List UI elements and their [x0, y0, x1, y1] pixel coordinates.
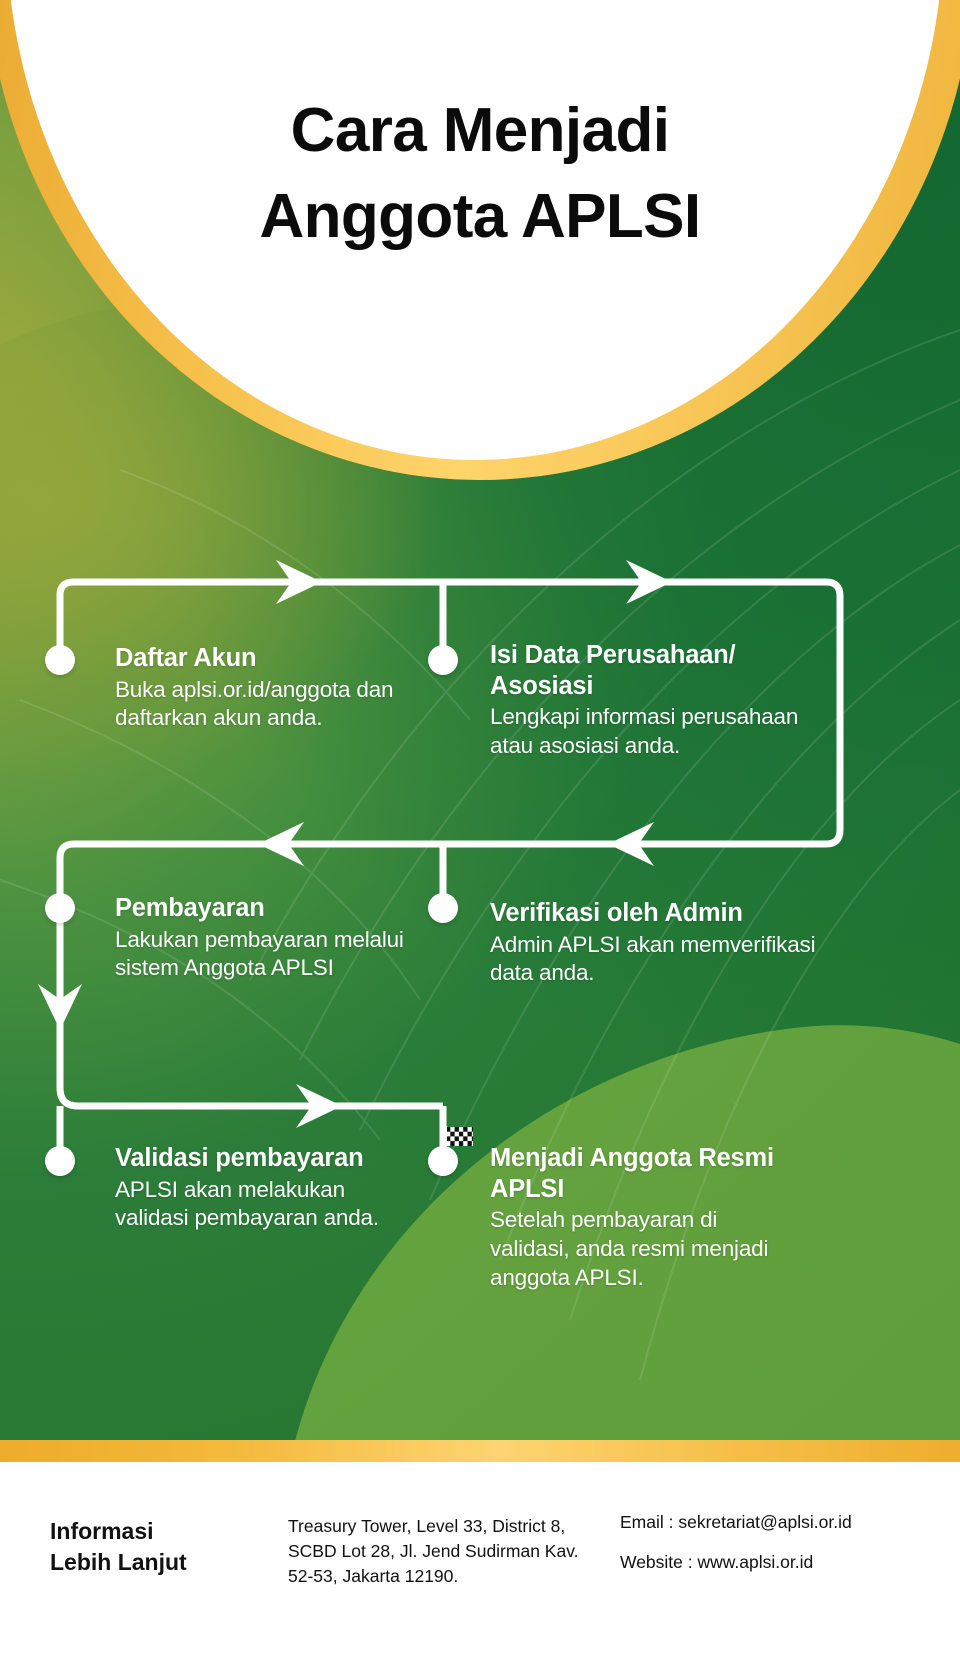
step-2-body: Lengkapi informasi perusahaan atau asosi… — [490, 703, 820, 761]
step-2-dot-marker — [428, 645, 458, 675]
step-1-text: Daftar Akun Buka aplsi.or.id/anggota dan… — [115, 643, 415, 733]
footer-contact: Email : sekretariat@aplsi.or.id Website … — [620, 1514, 950, 1593]
step-3-body: Lakukan pembayaran melalui sistem Anggot… — [115, 926, 415, 984]
footer-website[interactable]: Website : www.aplsi.or.id — [620, 1554, 950, 1572]
step-2-text: Isi Data Perusahaan/ Asosiasi Lengkapi i… — [490, 640, 820, 761]
footer: Informasi Lebih Lanjut Treasury Tower, L… — [0, 1462, 960, 1672]
step-5-body: APLSI akan melakukan validasi pembayaran… — [115, 1176, 385, 1234]
footer-label-line-1: Informasi — [50, 1516, 290, 1547]
step-6-text: Menjadi Anggota Resmi APLSI Setelah pemb… — [490, 1143, 790, 1293]
step-4-dot-marker — [428, 893, 458, 923]
footer-email[interactable]: Email : sekretariat@aplsi.or.id — [620, 1514, 950, 1532]
footer-address-line-1: Treasury Tower, Level 33, District 8, — [288, 1514, 588, 1539]
footer-address: Treasury Tower, Level 33, District 8, SC… — [288, 1514, 588, 1589]
step-4-body: Admin APLSI akan memverifikasi data anda… — [490, 931, 830, 989]
step-1-title: Daftar Akun — [115, 643, 415, 674]
step-4-title: Verifikasi oleh Admin — [490, 898, 830, 929]
step-5-text: Validasi pembayaran APLSI akan melakukan… — [115, 1143, 385, 1233]
step-1-dot-marker — [45, 645, 75, 675]
page-title-line-1: Cara Menjadi — [0, 88, 960, 174]
footer-address-line-3: 52-53, Jakarta 12190. — [288, 1564, 588, 1589]
footer-address-line-2: SCBD Lot 28, Jl. Jend Sudirman Kav. — [288, 1539, 588, 1564]
infographic-poster: Cara Menjadi Anggota APLSI — [0, 0, 960, 1672]
footer-label: Informasi Lebih Lanjut — [50, 1516, 290, 1578]
footer-label-line-2: Lebih Lanjut — [50, 1547, 290, 1578]
step-6-body: Setelah pembayaran di validasi, anda res… — [490, 1206, 790, 1292]
page-title-line-2: Anggota APLSI — [0, 174, 960, 260]
footer-gold-divider — [0, 1440, 960, 1462]
step-5-dot-marker — [45, 1146, 75, 1176]
step-5-title: Validasi pembayaran — [115, 1143, 385, 1174]
step-3-dot-marker — [45, 893, 75, 923]
step-3-title: Pembayaran — [115, 893, 415, 924]
page-title: Cara Menjadi Anggota APLSI — [0, 88, 960, 259]
step-4-text: Verifikasi oleh Admin Admin APLSI akan m… — [490, 898, 830, 988]
step-6-title: Menjadi Anggota Resmi APLSI — [490, 1143, 790, 1204]
step-3-text: Pembayaran Lakukan pembayaran melalui si… — [115, 893, 415, 983]
step-1-body: Buka aplsi.or.id/anggota dan daftarkan a… — [115, 676, 415, 734]
step-2-title: Isi Data Perusahaan/ Asosiasi — [490, 640, 820, 701]
checkered-flag-icon — [438, 1122, 482, 1166]
